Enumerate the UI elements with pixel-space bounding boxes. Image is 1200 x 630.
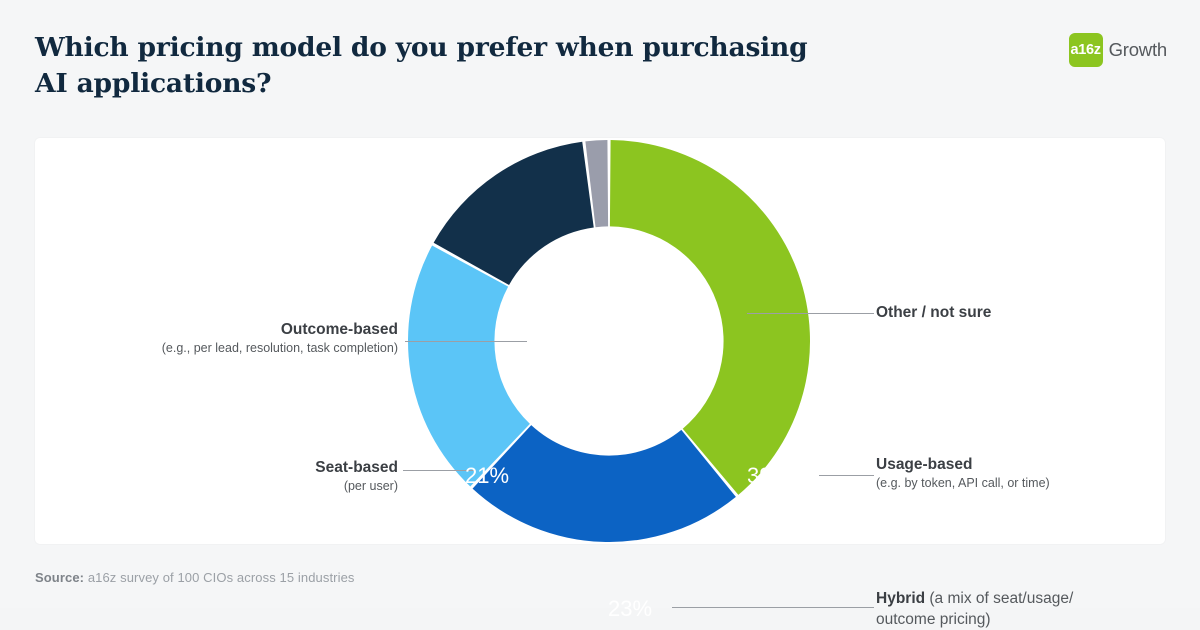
callout-hybrid-title: Hybrid (a mix of seat/usage/ outcome pri… — [876, 588, 1111, 630]
donut-slice — [610, 140, 810, 495]
callout-seat: Seat-based (per user) — [235, 458, 398, 495]
chart-card: 39% 23% 21% 15% 2% Other / not sure Usag… — [35, 138, 1165, 544]
callout-other-title: Other / not sure — [876, 303, 991, 323]
callout-other: Other / not sure — [876, 303, 991, 323]
leader-line-outcome — [405, 341, 527, 342]
page-root: Which pricing model do you prefer when p… — [0, 0, 1200, 608]
callout-usage-subtitle: (e.g. by token, API call, or time) — [876, 475, 1050, 492]
header: Which pricing model do you prefer when p… — [0, 0, 1200, 120]
source-note: Source: a16z survey of 100 CIOs across 1… — [35, 570, 355, 585]
leader-line-usage — [819, 475, 874, 476]
slice-value-other: 2% — [602, 298, 629, 320]
leader-line-other — [747, 313, 874, 314]
source-label: Source: — [35, 570, 84, 585]
slice-value-hybrid: 23% — [608, 596, 652, 622]
donut-chart: 39% 23% 21% 15% 2% Other / not sure Usag… — [35, 138, 1165, 544]
a16z-logo-icon: a16z — [1069, 33, 1103, 67]
slice-value-usage: 39% — [747, 463, 791, 489]
callout-hybrid: Hybrid (a mix of seat/usage/ outcome pri… — [876, 588, 1111, 630]
callout-usage-title: Usage-based — [876, 455, 1050, 475]
logo-wordmark: Growth — [1109, 39, 1167, 61]
callout-outcome: Outcome-based (e.g., per lead, resolutio… — [145, 320, 398, 357]
callout-outcome-title: Outcome-based — [145, 320, 398, 340]
callout-outcome-subtitle: (e.g., per lead, resolution, task comple… — [145, 340, 398, 357]
brand-logo: a16z Growth — [1069, 33, 1167, 67]
callout-seat-title: Seat-based — [235, 458, 398, 478]
callout-hybrid-title-bold: Hybrid — [876, 590, 925, 607]
source-text: a16z survey of 100 CIOs across 15 indust… — [84, 570, 354, 585]
slice-value-seat: 21% — [465, 463, 509, 489]
slice-value-outcome: 15% — [535, 326, 579, 352]
callout-seat-subtitle: (per user) — [235, 478, 398, 495]
page-title: Which pricing model do you prefer when p… — [35, 30, 865, 102]
callout-usage: Usage-based (e.g. by token, API call, or… — [876, 455, 1050, 492]
